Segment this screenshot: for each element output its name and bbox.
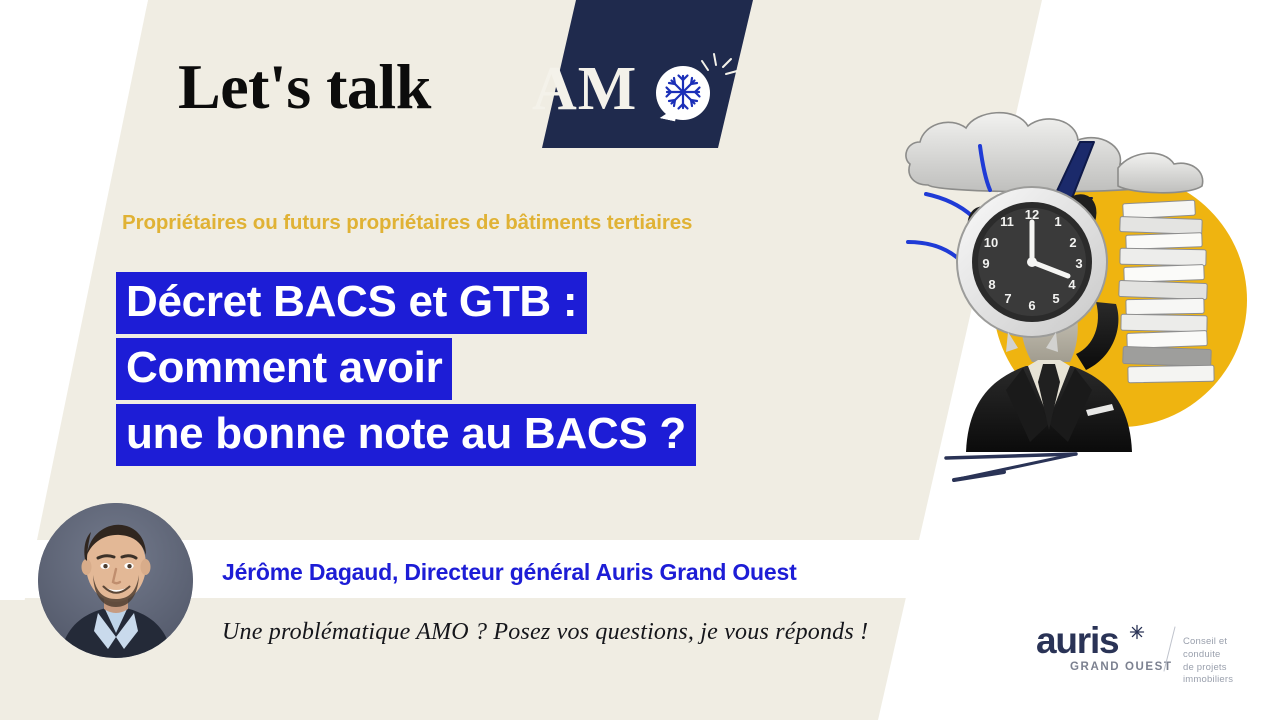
avatar (38, 503, 193, 658)
svg-text:6: 6 (1028, 298, 1035, 313)
auris-logo: auris GRAND OUEST Conseil et conduite de… (1036, 622, 1266, 684)
logo-tagline-line-2: de projets immobiliers (1183, 662, 1266, 688)
subtitle-audience: Propriétaires ou futurs propriétaires de… (122, 211, 692, 235)
svg-text:7: 7 (1004, 291, 1011, 306)
headline-line-3: une bonne note au BACS ? (116, 404, 696, 466)
logo-wordmark: auris (1036, 622, 1118, 659)
navy-swoosh-underline (946, 454, 1076, 480)
svg-text:8: 8 (988, 277, 995, 292)
hero-illustration: 12 1 2 3 4 5 6 7 8 9 10 11 (880, 90, 1280, 490)
logo-region: GRAND OUEST (1070, 662, 1173, 674)
logo-tagline: Conseil et conduite de projets immobilie… (1183, 636, 1266, 687)
svg-text:3: 3 (1075, 256, 1082, 271)
speaker-tagline: Une problématique AMO ? Posez vos questi… (222, 619, 868, 646)
svg-text:4: 4 (1068, 277, 1076, 292)
show-title-prefix: Let's talk (178, 55, 431, 119)
snowflake-icon (1129, 624, 1145, 645)
storm-cloud-icon (906, 113, 1203, 193)
show-title-accent: AM (532, 58, 637, 120)
headline-block: Décret BACS et GTB : Comment avoir une b… (116, 272, 696, 470)
svg-text:9: 9 (982, 256, 989, 271)
speaker-name: Jérôme Dagaud, Directeur général Auris G… (222, 559, 797, 586)
sparkle-lines-icon (700, 52, 748, 100)
svg-text:2: 2 (1069, 235, 1076, 250)
svg-text:11: 11 (1000, 214, 1014, 229)
headline-line-2: Comment avoir (116, 338, 452, 400)
slide-canvas: Let's talk AM (0, 0, 1280, 720)
svg-text:1: 1 (1054, 214, 1061, 229)
headline-line-1: Décret BACS et GTB : (116, 272, 587, 334)
logo-tagline-line-1: Conseil et conduite (1183, 636, 1266, 662)
svg-text:5: 5 (1052, 291, 1059, 306)
book-stack-icon (1119, 200, 1214, 383)
svg-text:10: 10 (984, 235, 998, 250)
